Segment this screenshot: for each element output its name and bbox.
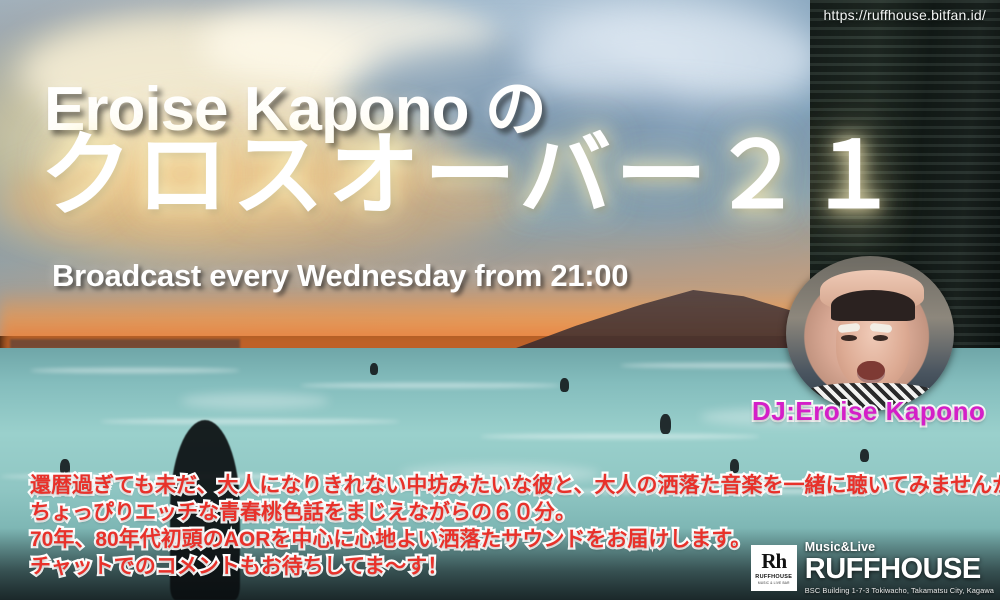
logo-mark-subtitle: MUSIC & LIVE BAR [758,581,790,585]
wave [30,368,240,373]
logo-monogram: Rh [761,551,786,572]
surfer-silhouette [860,449,869,462]
logo-tagline: Music&Live [805,541,994,554]
broadcast-promo-banner: https://ruffhouse.bitfan.id/ Eroise Kapo… [0,0,1000,600]
dj-name-label: DJ:Eroise Kapono [752,396,985,427]
page-title-japanese: クロスオーバー２１ [40,128,903,225]
surfer-silhouette [370,363,378,375]
wave [100,419,400,424]
surfer-silhouette [660,414,671,434]
logo-address: BSC Building 1-7-3 Tokiwacho, Takamatsu … [805,587,994,594]
surfer-silhouette [730,459,739,473]
logo-mark-word: RUFFHOUSE [755,574,792,580]
surfer-silhouette [560,378,569,392]
description-line: ちょっぴりエッチな青春桃色話をまじえながらの６０分。 [30,499,980,526]
foam [180,393,330,409]
hair-shape [831,290,915,321]
logo-text-block: Music&Live RUFFHOUSE BSC Building 1-7-3 … [805,541,994,594]
mouth-shape [857,361,886,383]
site-url[interactable]: https://ruffhouse.bitfan.id/ [823,7,986,23]
wave [300,383,560,388]
logo-brand-name: RUFFHOUSE [805,555,994,584]
description-line: 還暦過ぎても未だ、大人になりきれない中坊みたいな彼と、大人の洒落た音楽を一緒に聴… [30,472,980,499]
wave [480,434,760,439]
ruffhouse-logo-mark-icon: Rh RUFFHOUSE MUSIC & LIVE BAR [751,545,797,591]
ruffhouse-logo[interactable]: Rh RUFFHOUSE MUSIC & LIVE BAR Music&Live… [751,541,994,594]
dj-portrait-avatar [786,256,954,411]
broadcast-schedule: Broadcast every Wednesday from 21:00 [52,258,628,294]
eye-left [841,335,856,341]
